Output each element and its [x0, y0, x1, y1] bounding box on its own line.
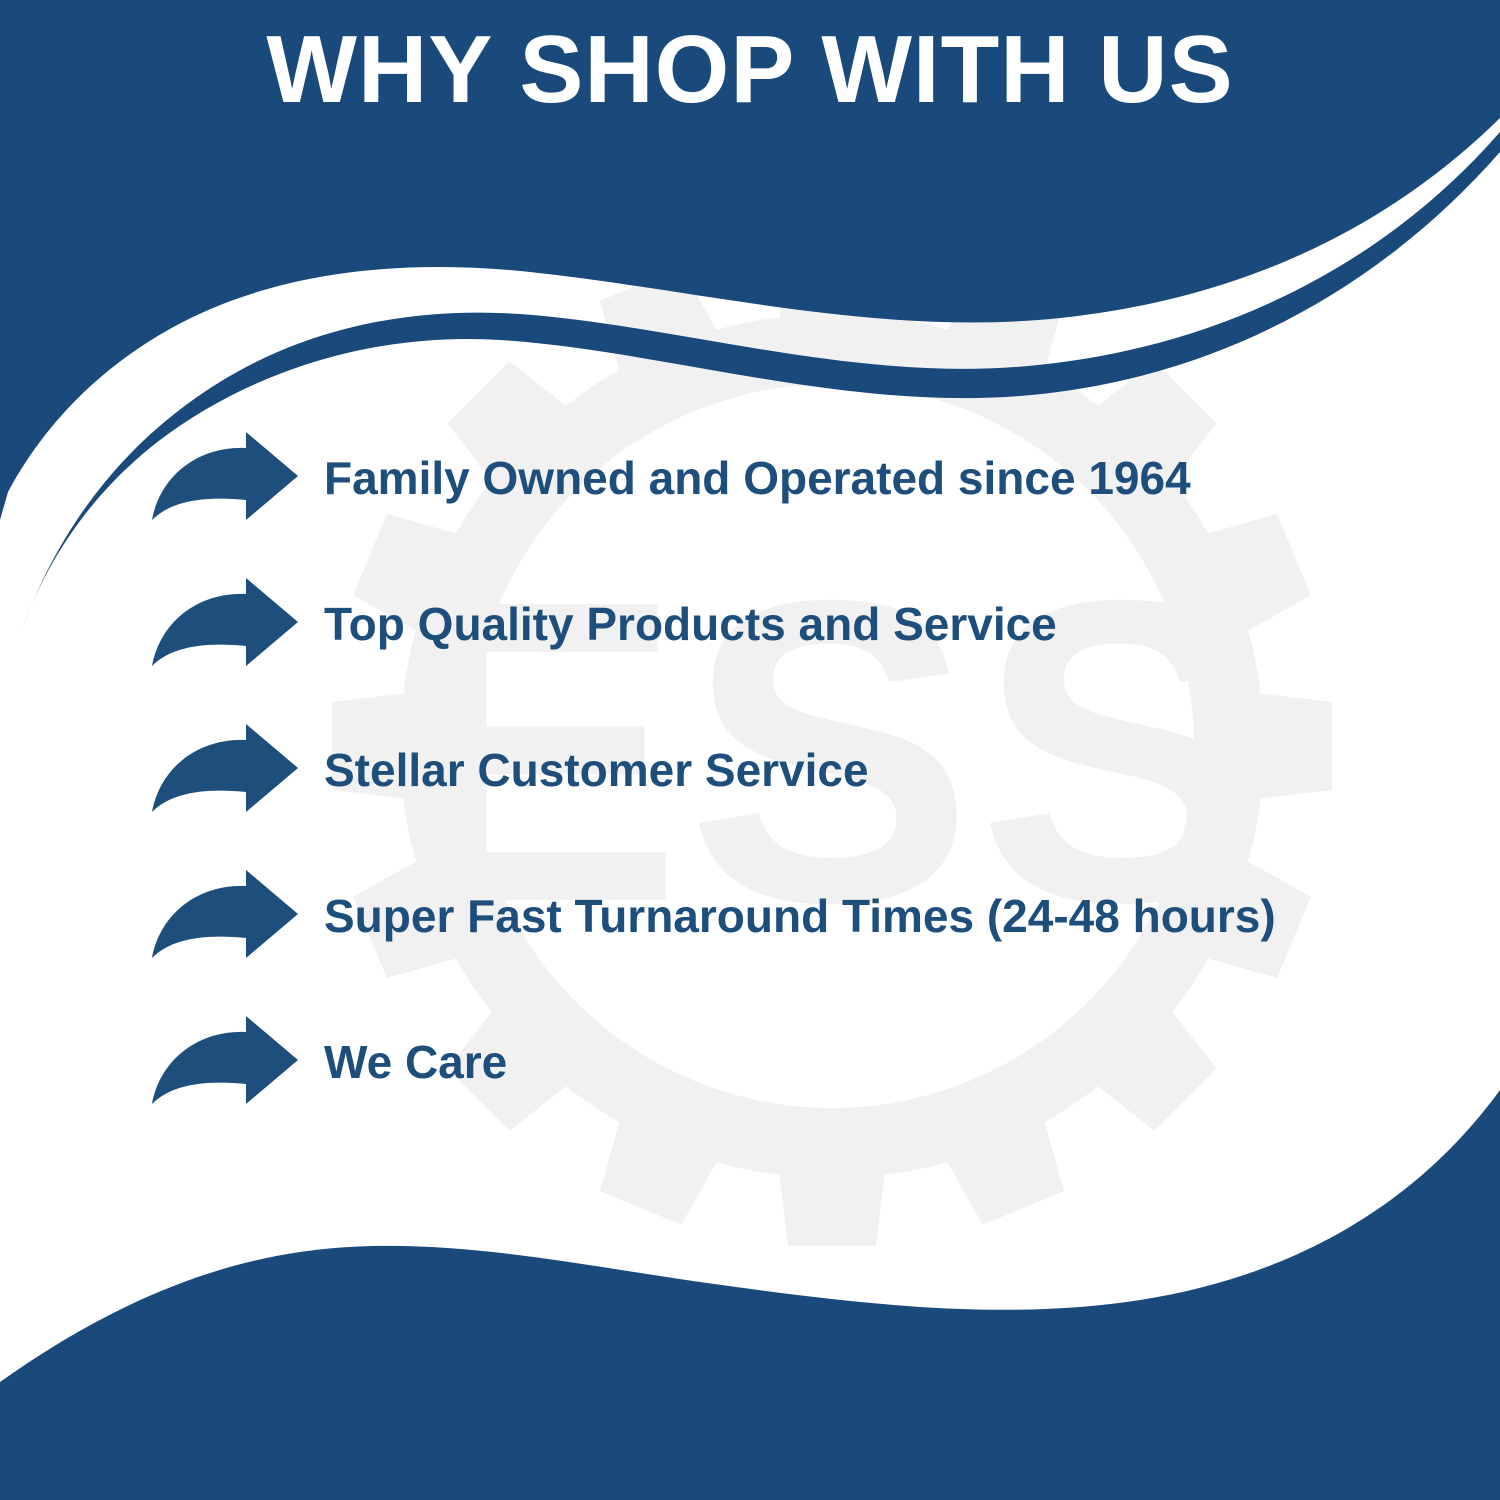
curved-arrow-right-icon [150, 724, 300, 816]
list-item-label: Family Owned and Operated since 1964 [324, 450, 1470, 506]
page-title: WHY SHOP WITH US [0, 18, 1500, 122]
curved-arrow-right-icon [150, 1016, 300, 1108]
list-item: Family Owned and Operated since 1964 [150, 432, 1470, 524]
poster-canvas: ESS WHY SHOP WITH US [0, 0, 1500, 1500]
list-item-label: Super Fast Turnaround Times (24-48 hours… [324, 888, 1470, 944]
bottom-wave-fill [0, 1090, 1500, 1500]
curved-arrow-right-icon [150, 578, 300, 670]
curved-arrow-right-icon [150, 870, 300, 962]
list-item: Stellar Customer Service [150, 724, 1470, 816]
list-item-label: Stellar Customer Service [324, 742, 1470, 798]
list-item: Super Fast Turnaround Times (24-48 hours… [150, 870, 1470, 962]
list-item-label: We Care [324, 1034, 1470, 1090]
list-item: We Care [150, 1016, 1470, 1108]
list-item-label: Top Quality Products and Service [324, 596, 1470, 652]
curved-arrow-right-icon [150, 432, 300, 524]
list-item: Top Quality Products and Service [150, 578, 1470, 670]
benefits-list: Family Owned and Operated since 1964 Top… [150, 432, 1470, 1108]
